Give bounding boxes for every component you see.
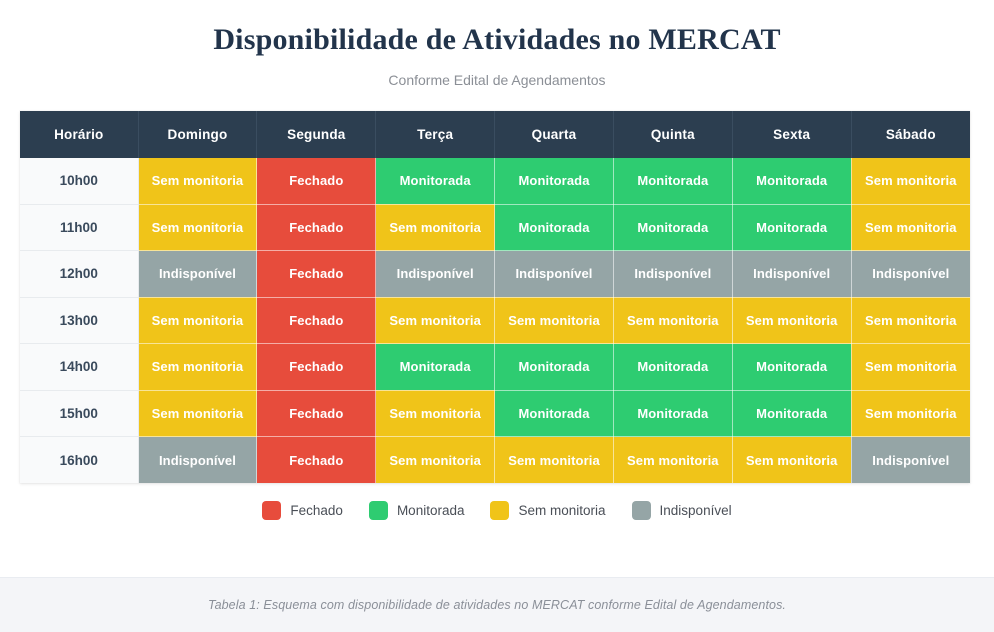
column-header-horario[interactable]: Horário <box>20 111 138 158</box>
status-cell-sem[interactable]: Sem monitoria <box>851 297 970 344</box>
status-cell-sem[interactable]: Sem monitoria <box>376 437 495 484</box>
status-cell-monitorada[interactable]: Monitorada <box>495 390 614 437</box>
status-cell-fechado[interactable]: Fechado <box>257 390 376 437</box>
legend: FechadoMonitoradaSem monitoriaIndisponív… <box>0 501 994 520</box>
legend-swatch-icon <box>369 501 388 520</box>
status-cell-monitorada[interactable]: Monitorada <box>732 204 851 251</box>
legend-label: Sem monitoria <box>518 503 605 518</box>
legend-swatch-icon <box>262 501 281 520</box>
status-cell-sem[interactable]: Sem monitoria <box>138 297 257 344</box>
status-cell-sem[interactable]: Sem monitoria <box>732 297 851 344</box>
column-header-terca[interactable]: Terça <box>376 111 495 158</box>
status-cell-monitorada[interactable]: Monitorada <box>376 344 495 391</box>
status-cell-sem[interactable]: Sem monitoria <box>613 437 732 484</box>
status-cell-sem[interactable]: Sem monitoria <box>138 158 257 205</box>
column-header-sexta[interactable]: Sexta <box>732 111 851 158</box>
table-caption: Tabela 1: Esquema com disponibilidade de… <box>208 598 786 612</box>
status-cell-monitorada[interactable]: Monitorada <box>613 158 732 205</box>
status-cell-sem[interactable]: Sem monitoria <box>138 344 257 391</box>
status-cell-monitorada[interactable]: Monitorada <box>495 204 614 251</box>
page-root: Disponibilidade de Atividades no MERCAT … <box>0 0 994 632</box>
page-title: Disponibilidade de Atividades no MERCAT <box>0 20 994 60</box>
status-cell-monitorada[interactable]: Monitorada <box>613 204 732 251</box>
document-header: Disponibilidade de Atividades no MERCAT … <box>0 0 994 89</box>
time-cell: 10h00 <box>20 158 138 205</box>
status-cell-monitorada[interactable]: Monitorada <box>732 344 851 391</box>
column-header-segunda[interactable]: Segunda <box>257 111 376 158</box>
status-cell-sem[interactable]: Sem monitoria <box>138 390 257 437</box>
status-cell-sem[interactable]: Sem monitoria <box>851 344 970 391</box>
table-row: 10h00Sem monitoriaFechadoMonitoradaMonit… <box>20 158 970 205</box>
status-cell-monitorada[interactable]: Monitorada <box>495 158 614 205</box>
schedule-table-container: HorárioDomingoSegundaTerçaQuartaQuintaSe… <box>20 111 970 483</box>
status-cell-sem[interactable]: Sem monitoria <box>376 390 495 437</box>
legend-item-monitorada: Monitorada <box>369 501 465 520</box>
time-cell: 15h00 <box>20 390 138 437</box>
status-cell-indisponivel[interactable]: Indisponível <box>138 251 257 298</box>
time-cell: 12h00 <box>20 251 138 298</box>
status-cell-sem[interactable]: Sem monitoria <box>495 297 614 344</box>
time-cell: 13h00 <box>20 297 138 344</box>
status-cell-monitorada[interactable]: Monitorada <box>376 158 495 205</box>
column-header-quinta[interactable]: Quinta <box>613 111 732 158</box>
status-cell-fechado[interactable]: Fechado <box>257 344 376 391</box>
legend-item-fechado: Fechado <box>262 501 343 520</box>
status-cell-fechado[interactable]: Fechado <box>257 204 376 251</box>
status-cell-indisponivel[interactable]: Indisponível <box>732 251 851 298</box>
legend-label: Indisponível <box>660 503 732 518</box>
status-cell-fechado[interactable]: Fechado <box>257 158 376 205</box>
status-cell-indisponivel[interactable]: Indisponível <box>851 437 970 484</box>
legend-swatch-icon <box>490 501 509 520</box>
page-subtitle: Conforme Edital de Agendamentos <box>0 71 994 89</box>
status-cell-monitorada[interactable]: Monitorada <box>732 158 851 205</box>
table-row: 15h00Sem monitoriaFechadoSem monitoriaMo… <box>20 390 970 437</box>
column-header-domingo[interactable]: Domingo <box>138 111 257 158</box>
status-cell-indisponivel[interactable]: Indisponível <box>138 437 257 484</box>
status-cell-sem[interactable]: Sem monitoria <box>851 204 970 251</box>
status-cell-indisponivel[interactable]: Indisponível <box>495 251 614 298</box>
status-cell-monitorada[interactable]: Monitorada <box>613 390 732 437</box>
table-row: 11h00Sem monitoriaFechadoSem monitoriaMo… <box>20 204 970 251</box>
table-row: 13h00Sem monitoriaFechadoSem monitoriaSe… <box>20 297 970 344</box>
status-cell-monitorada[interactable]: Monitorada <box>732 390 851 437</box>
column-header-sabado[interactable]: Sábado <box>851 111 970 158</box>
legend-item-indisponivel: Indisponível <box>632 501 732 520</box>
table-row: 14h00Sem monitoriaFechadoMonitoradaMonit… <box>20 344 970 391</box>
status-cell-indisponivel[interactable]: Indisponível <box>376 251 495 298</box>
status-cell-fechado[interactable]: Fechado <box>257 297 376 344</box>
status-cell-sem[interactable]: Sem monitoria <box>376 297 495 344</box>
time-cell: 14h00 <box>20 344 138 391</box>
caption-band: Tabela 1: Esquema com disponibilidade de… <box>0 577 994 632</box>
status-cell-sem[interactable]: Sem monitoria <box>851 158 970 205</box>
status-cell-monitorada[interactable]: Monitorada <box>495 344 614 391</box>
time-cell: 16h00 <box>20 437 138 484</box>
status-cell-monitorada[interactable]: Monitorada <box>613 344 732 391</box>
table-row: 16h00IndisponívelFechadoSem monitoriaSem… <box>20 437 970 484</box>
status-cell-indisponivel[interactable]: Indisponível <box>851 251 970 298</box>
status-cell-sem[interactable]: Sem monitoria <box>613 297 732 344</box>
status-cell-sem[interactable]: Sem monitoria <box>376 204 495 251</box>
status-cell-indisponivel[interactable]: Indisponível <box>613 251 732 298</box>
status-cell-fechado[interactable]: Fechado <box>257 437 376 484</box>
status-cell-sem[interactable]: Sem monitoria <box>732 437 851 484</box>
legend-label: Monitorada <box>397 503 465 518</box>
legend-item-sem: Sem monitoria <box>490 501 605 520</box>
legend-label: Fechado <box>290 503 343 518</box>
status-cell-fechado[interactable]: Fechado <box>257 251 376 298</box>
schedule-table: HorárioDomingoSegundaTerçaQuartaQuintaSe… <box>20 111 970 483</box>
table-row: 12h00IndisponívelFechadoIndisponívelIndi… <box>20 251 970 298</box>
legend-swatch-icon <box>632 501 651 520</box>
status-cell-sem[interactable]: Sem monitoria <box>851 390 970 437</box>
status-cell-sem[interactable]: Sem monitoria <box>495 437 614 484</box>
table-header-row: HorárioDomingoSegundaTerçaQuartaQuintaSe… <box>20 111 970 158</box>
time-cell: 11h00 <box>20 204 138 251</box>
table-head: HorárioDomingoSegundaTerçaQuartaQuintaSe… <box>20 111 970 158</box>
table-body: 10h00Sem monitoriaFechadoMonitoradaMonit… <box>20 158 970 484</box>
status-cell-sem[interactable]: Sem monitoria <box>138 204 257 251</box>
column-header-quarta[interactable]: Quarta <box>495 111 614 158</box>
